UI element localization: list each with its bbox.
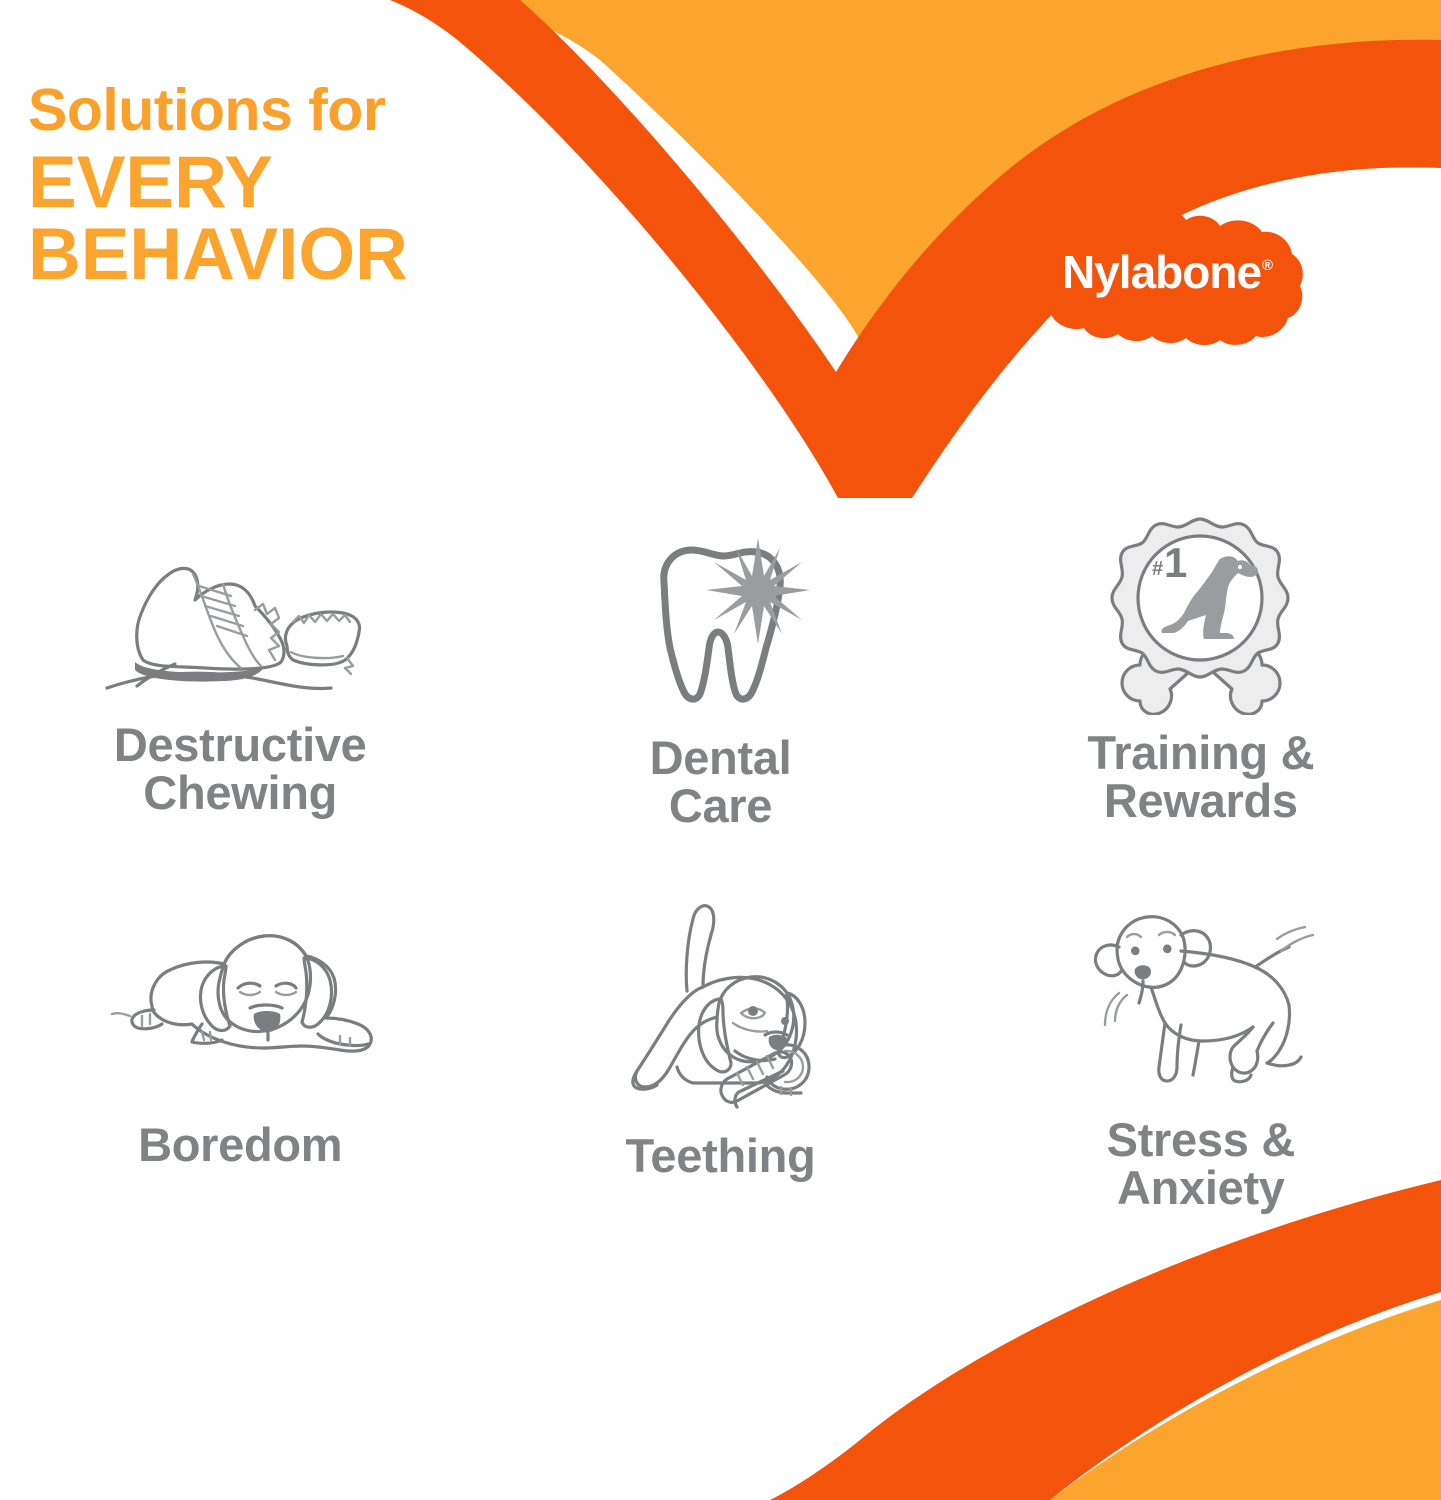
behavior-item-teething: Teething xyxy=(480,895,960,1270)
headline-block: Solutions for EVERY BEHAVIOR xyxy=(28,82,408,291)
infographic-page: Solutions for EVERY BEHAVIOR Nylabone ® xyxy=(0,0,1441,1500)
rosette-rank-text: # xyxy=(1152,558,1163,580)
behavior-grid: Destructive Chewing Dental Care xyxy=(0,520,1441,1270)
bored-dog-lying-icon xyxy=(90,895,390,1075)
sparkling-tooth-icon xyxy=(630,520,810,720)
teething-puppy-icon xyxy=(615,895,825,1110)
behavior-row-2: Boredom xyxy=(0,895,1441,1270)
bottom-amber-swoosh xyxy=(1050,1300,1441,1500)
logo-wordmark: Nylabone xyxy=(1062,246,1261,298)
behavior-label: Teething xyxy=(626,1132,816,1180)
behavior-item-stress-anxiety: Stress & Anxiety xyxy=(961,895,1441,1270)
rosette-dog-eye xyxy=(1238,565,1242,569)
behavior-label: Dental Care xyxy=(650,734,792,831)
behavior-item-destructive-chewing: Destructive Chewing xyxy=(0,520,480,895)
award-rosette-icon: # 1 xyxy=(1108,520,1293,715)
headline-line-1: Solutions for xyxy=(28,82,408,140)
anxious-dog-icon xyxy=(1081,895,1321,1090)
headline-line-2: EVERY xyxy=(28,147,408,219)
behavior-item-training-rewards: # 1 Training & Rewards xyxy=(961,520,1441,895)
headline-line-3: BEHAVIOR xyxy=(28,219,408,291)
behavior-label: Destructive Chewing xyxy=(114,721,367,818)
logo-registered-mark: ® xyxy=(1262,257,1273,274)
behavior-label: Training & Rewards xyxy=(1087,729,1314,826)
behavior-row-1: Destructive Chewing Dental Care xyxy=(0,520,1441,895)
chewed-shoe-icon xyxy=(95,520,385,705)
behavior-item-boredom: Boredom xyxy=(0,895,480,1270)
behavior-label: Boredom xyxy=(138,1121,342,1169)
behavior-label: Stress & Anxiety xyxy=(1107,1116,1295,1213)
nylabone-logo: Nylabone ® xyxy=(1014,198,1314,350)
behavior-item-dental-care: Dental Care xyxy=(480,520,960,895)
logo-bone-brush-shape: Nylabone ® xyxy=(1014,198,1314,350)
rosette-rank-number: 1 xyxy=(1164,539,1187,586)
